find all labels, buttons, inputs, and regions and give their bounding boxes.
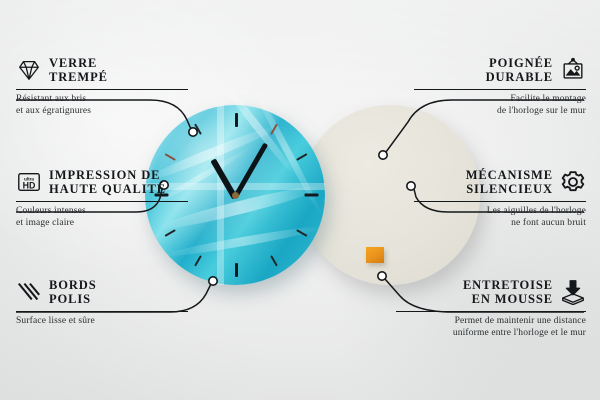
diamond-icon	[16, 57, 42, 83]
clock-tick	[270, 255, 278, 266]
feature-title: MÉCANISME SILENCIEUX	[466, 168, 553, 196]
feature-desc-line1: Surface lisse et sûre	[16, 316, 188, 328]
feature-title: POIGNÉE DURABLE	[486, 56, 553, 84]
clock-minute-hand	[233, 143, 268, 199]
feature-desc-line1: Facilite le montage	[414, 94, 586, 106]
glass-reflection	[217, 105, 224, 285]
feature-desc-line1: Les aiguilles de l'horloge	[414, 206, 586, 218]
feature-header: MÉCANISME SILENCIEUX	[414, 168, 586, 196]
feature-bords-polis: BORDS POLIS Surface lisse et sûre	[16, 278, 188, 328]
feature-desc-line2: uniforme entre l'horloge et le mur	[396, 328, 586, 340]
clock-tick	[235, 263, 238, 277]
feature-title: ENTRETOISE EN MOUSSE	[463, 278, 553, 306]
feature-desc-line1: Couleurs intenses	[16, 206, 188, 218]
feature-desc-line2: et aux égratignures	[16, 106, 188, 118]
feature-title: IMPRESSION DE HAUTE QUALITÉ	[49, 168, 166, 196]
clock-center-cap	[232, 192, 239, 199]
feature-header: ENTRETOISE EN MOUSSE	[396, 278, 586, 306]
clock-tick	[164, 229, 175, 237]
polished-edges-icon	[16, 279, 42, 305]
feature-desc-line1: Résistant aux bris	[16, 94, 188, 106]
feature-divider	[16, 201, 188, 202]
feature-verre-trempe: VERRE TREMPÉ Résistant aux bris et aux é…	[16, 56, 188, 117]
picture-hanger-icon	[560, 57, 586, 83]
svg-text:HD: HD	[23, 181, 36, 191]
feature-title: BORDS POLIS	[49, 278, 97, 306]
feature-poignee-durable: POIGNÉE DURABLE Facilite le montage de l…	[414, 56, 586, 117]
feature-mecanisme-silencieux: MÉCANISME SILENCIEUX Les aiguilles de l'…	[414, 168, 586, 229]
feature-divider	[396, 311, 586, 312]
feature-header: VERRE TREMPÉ	[16, 56, 188, 84]
clock-tick	[164, 153, 175, 161]
feature-desc-line2: ne font aucun bruit	[414, 218, 586, 230]
feature-divider	[16, 311, 188, 312]
feature-header: ultra HD IMPRESSION DE HAUTE QUALITÉ	[16, 168, 188, 196]
feature-header: POIGNÉE DURABLE	[414, 56, 586, 84]
feature-impression-haute-qualite: ultra HD IMPRESSION DE HAUTE QUALITÉ Cou…	[16, 168, 188, 229]
feature-divider	[16, 89, 188, 90]
clock-tick	[194, 123, 202, 134]
clock-tick	[305, 194, 319, 197]
infographic-canvas: VERRE TREMPÉ Résistant aux bris et aux é…	[0, 0, 600, 400]
foam-spacer-pad	[366, 247, 384, 263]
clock-tick	[194, 255, 202, 266]
clock-tick	[296, 153, 307, 161]
feature-header: BORDS POLIS	[16, 278, 188, 306]
feature-divider	[414, 89, 586, 90]
gear-icon	[560, 169, 586, 195]
feature-title: VERRE TREMPÉ	[49, 56, 108, 84]
foam-spacer-icon	[560, 279, 586, 305]
clock-tick	[235, 113, 238, 127]
ultra-hd-icon: ultra HD	[16, 169, 42, 195]
feature-entretoise-en-mousse: ENTRETOISE EN MOUSSE Permet de maintenir…	[396, 278, 586, 339]
feature-desc-line2: et image claire	[16, 218, 188, 230]
feature-desc-line2: de l'horloge sur le mur	[414, 106, 586, 118]
feature-divider	[414, 201, 586, 202]
feature-desc-line1: Permet de maintenir une distance	[396, 316, 586, 328]
